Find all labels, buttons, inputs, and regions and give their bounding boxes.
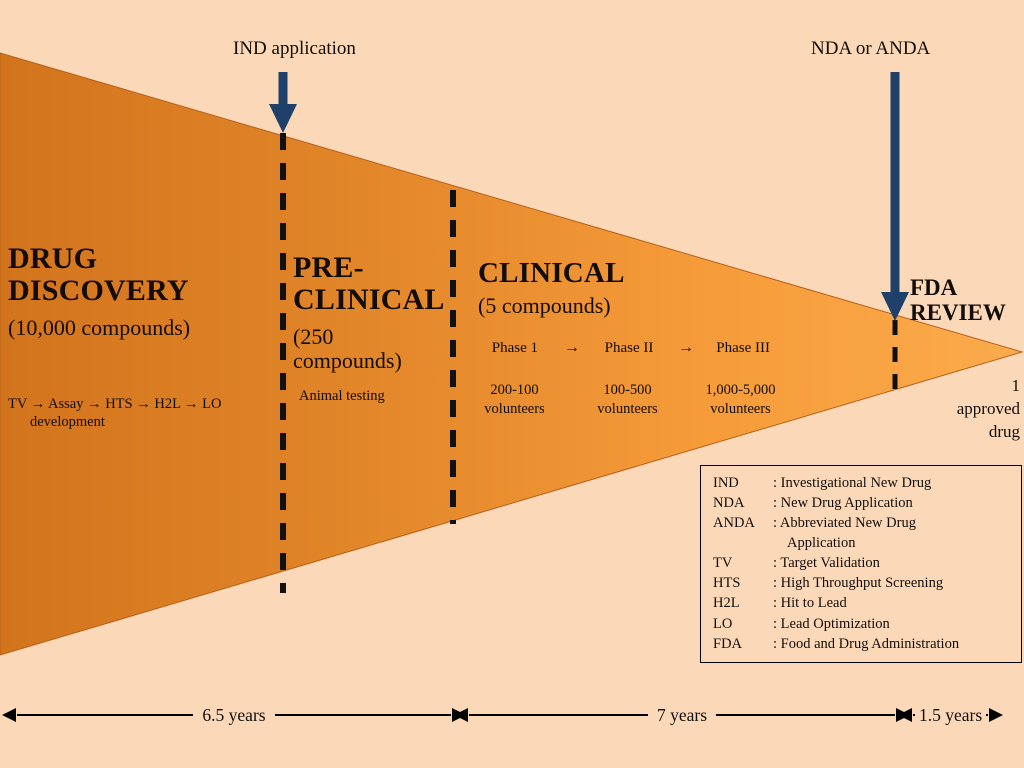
timeline-line-left	[913, 714, 915, 716]
legend-sep: :	[773, 616, 777, 632]
abbreviations-legend: IND : Investigational New Drug NDA : New…	[700, 465, 1022, 663]
legend-definition-text: Food and Drug Administration	[781, 636, 959, 652]
legend-table: IND : Investigational New Drug NDA : New…	[713, 473, 1013, 654]
stage-preclinical-compounds: (250 compounds)	[293, 325, 445, 373]
legend-definition: : Food and Drug Administration	[771, 634, 1013, 654]
timeline-label-discovery: 6.5 years	[193, 705, 274, 726]
legend-definition-text: Target Validation	[780, 555, 880, 571]
legend-definition: : New Drug Application	[771, 493, 1013, 513]
legend-abbr: ANDA	[713, 513, 771, 533]
timeline-segment-clinical: 7 years	[469, 694, 895, 736]
timeline-line-right	[986, 714, 988, 716]
clinical-phase-3-label: Phase III	[702, 340, 784, 357]
legend-sep: :	[773, 515, 777, 531]
legend-abbr	[713, 533, 771, 553]
timeline-line-right	[275, 714, 451, 716]
stage-drug-discovery: DRUG DISCOVERY (10,000 compounds)	[8, 243, 278, 340]
legend-definition-text: Lead Optimization	[781, 616, 890, 632]
stage-clinical-title: CLINICAL	[478, 258, 778, 289]
legend-abbr: TV	[713, 553, 771, 573]
timeline-line-left	[469, 714, 648, 716]
stage-drug-discovery-compounds: (10,000 compounds)	[8, 316, 278, 340]
timeline-segment-review: 1.5 years	[913, 694, 1010, 736]
clinical-phase-1-volunteers: 200-100 volunteers	[458, 381, 571, 418]
ind-application-label: IND application	[233, 38, 356, 60]
stage-drug-discovery-title: DRUG DISCOVERY	[8, 243, 278, 307]
stage-preclinical: PRE- CLINICAL (250 compounds)	[293, 252, 445, 373]
discovery-pipeline-steps: TV → Assay → HTS → H2L → LO development	[8, 395, 280, 431]
legend-sep: :	[773, 575, 777, 591]
preclinical-note: Animal testing	[299, 387, 449, 405]
timeline-label-review: 1.5 years	[915, 705, 986, 726]
legend-abbr: HTS	[713, 573, 771, 593]
legend-definition: : Hit to Lead	[771, 593, 1013, 613]
legend-definition: : Abbreviated New Drug	[771, 513, 1013, 533]
legend-sep: :	[773, 475, 777, 491]
legend-definition-text: Application	[771, 533, 1013, 553]
legend-row: LO : Lead Optimization	[713, 614, 1013, 634]
legend-sep: :	[773, 495, 777, 511]
stage-fda-review-title: FDA REVIEW	[910, 275, 1022, 326]
legend-row: H2L : Hit to Lead	[713, 593, 1013, 613]
clinical-phase-1-label: Phase 1	[474, 340, 556, 357]
clinical-volunteer-row: 200-100 volunteers 100-500 volunteers 1,…	[458, 381, 798, 418]
discovery-pipeline-line-1: TV → Assay → HTS → H2L → LO	[8, 395, 280, 413]
legend-definition: : Target Validation	[771, 553, 1013, 573]
legend-definition-text: High Throughput Screening	[781, 575, 943, 591]
legend-sep: :	[773, 555, 777, 571]
nda-anda-label: NDA or ANDA	[811, 38, 930, 60]
legend-definition: : Lead Optimization	[771, 614, 1013, 634]
legend-row: NDA : New Drug Application	[713, 493, 1013, 513]
discovery-pipeline-line-2: development	[8, 413, 280, 431]
legend-sep: :	[773, 595, 777, 611]
legend-definition: : High Throughput Screening	[771, 573, 1013, 593]
ind-application-arrow	[269, 72, 297, 133]
approved-drug-outcome: 1 approved drug	[880, 375, 1020, 444]
duration-timeline: 6.5 years 7 years 1.5 years	[0, 694, 1024, 736]
legend-definition-text: Abbreviated New Drug	[780, 515, 916, 531]
phase-arrow-2-icon: →	[670, 339, 702, 357]
clinical-phase-row: Phase 1 → Phase II → Phase III	[474, 339, 784, 357]
timeline-line-left	[17, 714, 193, 716]
timeline-line-right	[716, 714, 895, 716]
legend-abbr: LO	[713, 614, 771, 634]
stage-preclinical-title: PRE- CLINICAL	[293, 252, 445, 316]
legend-definition-text: Hit to Lead	[781, 595, 847, 611]
legend-row: IND : Investigational New Drug	[713, 473, 1013, 493]
phase-arrow-1-icon: →	[556, 339, 588, 357]
timeline-label-clinical: 7 years	[648, 705, 716, 726]
legend-row: TV : Target Validation	[713, 553, 1013, 573]
legend-sep: :	[773, 636, 777, 652]
clinical-phase-2-volunteers: 100-500 volunteers	[571, 381, 684, 418]
timeline-segment-discovery: 6.5 years	[17, 694, 451, 736]
legend-definition-text: New Drug Application	[781, 495, 913, 511]
legend-definition-text: Investigational New Drug	[781, 475, 932, 491]
legend-row: Application	[713, 533, 1013, 553]
clinical-phase-2-label: Phase II	[588, 340, 670, 357]
stage-clinical-compounds: (5 compounds)	[478, 294, 778, 318]
nda-anda-arrow	[881, 72, 909, 321]
legend-abbr: FDA	[713, 634, 771, 654]
diagram-canvas: IND application NDA or ANDA DRUG DISCOVE…	[0, 0, 1024, 768]
legend-abbr: H2L	[713, 593, 771, 613]
legend-abbr: NDA	[713, 493, 771, 513]
legend-definition: : Investigational New Drug	[771, 473, 1013, 493]
legend-abbr: IND	[713, 473, 771, 493]
clinical-phase-3-volunteers: 1,000-5,000 volunteers	[684, 381, 797, 418]
legend-row: HTS : High Throughput Screening	[713, 573, 1013, 593]
legend-row: FDA : Food and Drug Administration	[713, 634, 1013, 654]
stage-clinical: CLINICAL (5 compounds)	[478, 258, 778, 318]
legend-row: ANDA : Abbreviated New Drug	[713, 513, 1013, 533]
